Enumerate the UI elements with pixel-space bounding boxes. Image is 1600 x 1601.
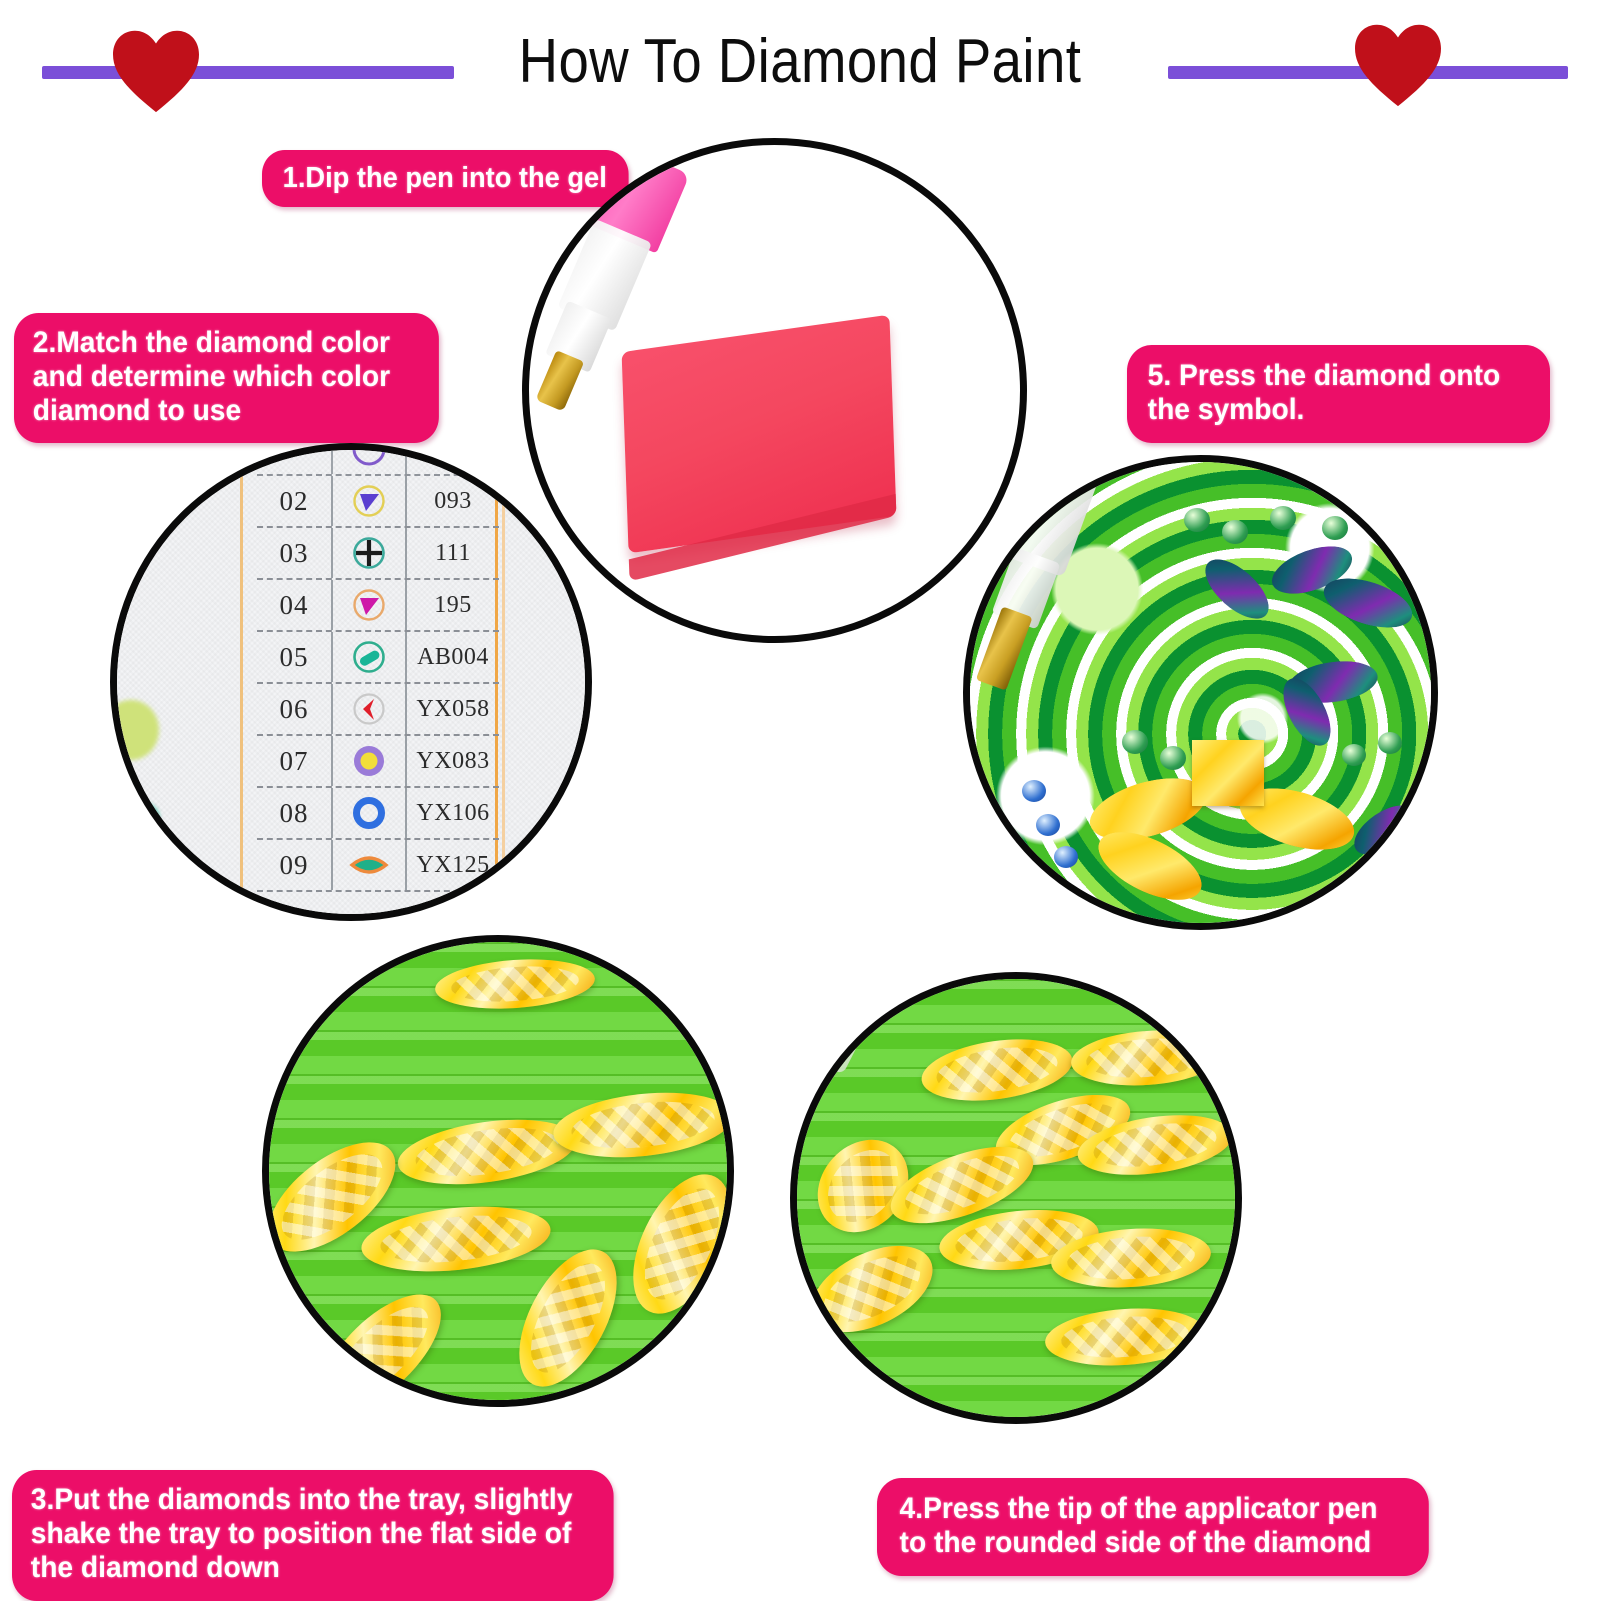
chart-row-code: 111 bbox=[407, 540, 499, 567]
page-title: How To Diamond Paint bbox=[96, 26, 1504, 97]
leaf-icon bbox=[331, 840, 407, 890]
chart-row-number: 04 bbox=[257, 590, 331, 621]
chart-row-number: 03 bbox=[257, 538, 331, 569]
step-5-label: 5. Press the diamond onto the symbol. bbox=[1127, 345, 1550, 443]
chart-row-code: YX083 bbox=[407, 748, 499, 775]
color-chart-row: 06 YX058 bbox=[257, 684, 499, 736]
color-chart-row: 05 AB004 bbox=[257, 632, 499, 684]
chart-row-number: 02 bbox=[257, 486, 331, 517]
chart-row-number: 08 bbox=[257, 798, 331, 829]
photo-diamonds-in-tray bbox=[262, 935, 734, 1407]
gem-green-round bbox=[1122, 730, 1148, 754]
photo-dip-pen-in-gel bbox=[522, 138, 1027, 643]
gem-green-round bbox=[1270, 506, 1296, 530]
chart-row-code: YX058 bbox=[407, 696, 499, 723]
chart-row-code: YX125 bbox=[407, 852, 499, 879]
pen-tip bbox=[976, 606, 1033, 690]
color-chart-row: 02 093 bbox=[257, 476, 499, 528]
page-header: How To Diamond Paint bbox=[0, 0, 1600, 130]
sheet-margin-line bbox=[502, 450, 505, 914]
gem-green-round bbox=[1184, 508, 1210, 532]
sheet-margin-line bbox=[240, 450, 243, 914]
photo-pen-on-diamond bbox=[790, 972, 1242, 1424]
step-4-label: 4.Press the tip of the applicator pen to… bbox=[877, 1478, 1429, 1576]
donut-icon bbox=[331, 736, 407, 786]
chart-sheet: 02802 09303 11104 19505 AB00406 YX05807 … bbox=[117, 450, 585, 914]
double-dot-icon bbox=[331, 443, 407, 474]
pen-tip bbox=[535, 350, 584, 411]
color-chart-table: 02802 09303 11104 19505 AB00406 YX05807 … bbox=[257, 443, 499, 892]
chart-row-number: 09 bbox=[257, 850, 331, 881]
chart-row-number: 05 bbox=[257, 642, 331, 673]
color-chart-row: 028 bbox=[257, 443, 499, 476]
gem-green-round bbox=[1342, 744, 1366, 766]
chart-row-number: 06 bbox=[257, 694, 331, 725]
ring-icon bbox=[331, 788, 407, 838]
gem-yellow-placed bbox=[1192, 740, 1264, 806]
chart-row-code: 093 bbox=[407, 488, 499, 515]
chart-row-number: 07 bbox=[257, 746, 331, 777]
triangle-icon bbox=[331, 580, 407, 630]
chart-row-code: AB004 bbox=[407, 644, 499, 671]
gel-pad bbox=[622, 315, 897, 554]
gem-blue-round bbox=[1036, 814, 1060, 836]
color-chart-row: 03 111 bbox=[257, 528, 499, 580]
plus-icon bbox=[331, 528, 407, 578]
color-chart-row: 04 195 bbox=[257, 580, 499, 632]
step-2-label: 2.Match the diamond color and determine … bbox=[14, 313, 439, 443]
step-3-label: 3.Put the diamonds into the tray, slight… bbox=[12, 1470, 614, 1601]
chart-edge-blob bbox=[110, 800, 159, 834]
gem-blue-round bbox=[1054, 846, 1078, 868]
photo-press-diamond-onto-symbol bbox=[963, 455, 1438, 930]
chart-edge-blob bbox=[110, 700, 159, 760]
chart-row-code: 195 bbox=[407, 592, 499, 619]
gem-green-round bbox=[1222, 520, 1248, 544]
gem-blue-round bbox=[1022, 780, 1046, 802]
photo-color-symbol-chart: 02802 09303 11104 19505 AB00406 YX05807 … bbox=[110, 443, 592, 921]
chevron-left-icon bbox=[331, 684, 407, 734]
gem-green-round bbox=[1322, 516, 1348, 540]
color-chart-row: 07 YX083 bbox=[257, 736, 499, 788]
gem-green-round bbox=[1160, 746, 1186, 770]
chart-row-code: 028 bbox=[407, 443, 499, 463]
gem-green-round bbox=[1378, 732, 1402, 754]
triangle-icon bbox=[331, 476, 407, 526]
chart-row-code: YX106 bbox=[407, 800, 499, 827]
color-chart-row: 09 YX125 bbox=[257, 840, 499, 892]
color-chart-row: 08 YX106 bbox=[257, 788, 499, 840]
capsule-icon bbox=[331, 632, 407, 682]
